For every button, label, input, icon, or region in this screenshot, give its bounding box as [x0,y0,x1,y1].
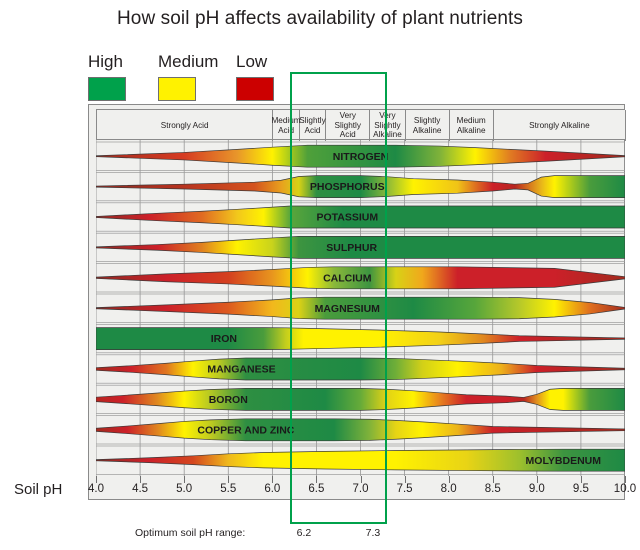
x-tick [537,476,538,483]
x-axis-ticks [96,476,625,483]
optimum-range-line-low [290,104,292,501]
x-tick [272,476,273,483]
nutrient-label-boron: BORON [209,394,248,406]
ph-category-header-row: Strongly AcidMedium AcidSlightly AcidVer… [96,109,625,140]
optimum-range-low-value: 6.2 [297,527,312,539]
ph-category-very-slightly-alkaline: Very Slightly Alkaline [370,110,405,141]
x-tick [361,476,362,483]
nutrient-label-phosphorus: PHOSPHORUS [310,181,385,193]
nutrient-label-nitrogen: NITROGEN [333,151,388,163]
page-title: How soil pH affects availability of plan… [0,8,640,30]
legend-label-low: Low [236,52,274,72]
x-tick-label: 5.5 [220,483,236,495]
nutrient-label-copper-and-zinc: COPPER AND ZINC [197,424,294,436]
legend-swatch-medium [158,77,196,101]
x-tick-label: 6.5 [308,483,324,495]
optimum-range-high-value: 7.3 [366,527,381,539]
x-tick-label: 10.0 [614,483,636,495]
x-tick-label: 7.0 [353,483,369,495]
x-tick-label: 9.5 [573,483,589,495]
ph-category-slightly-acid: Slightly Acid [300,110,326,141]
x-tick [140,476,141,483]
nutrient-label-sulphur: SULPHUR [326,242,377,254]
nutrient-label-potassium: POTASSIUM [316,212,378,224]
ph-category-medium-alkaline: Medium Alkaline [450,110,494,141]
optimum-range-highlight-top [290,72,387,105]
x-tick-label: 9.0 [529,483,545,495]
x-tick-label: 6.0 [264,483,280,495]
nutrient-band-copper-and-zinc [96,419,625,441]
ph-category-strongly-acid: Strongly Acid [97,110,273,141]
legend-item-medium: Medium [158,52,218,101]
optimum-range-caption: Optimum soil pH range: [135,527,245,539]
legend-label-high: High [88,52,126,72]
legend-item-low: Low [236,52,274,101]
x-tick-label: 8.5 [485,483,501,495]
x-tick-label: 5.0 [176,483,192,495]
nutrient-label-iron: IRON [211,333,237,345]
legend-swatch-low [236,77,274,101]
x-tick [228,476,229,483]
x-tick [96,476,97,483]
x-tick [316,476,317,483]
x-tick [449,476,450,483]
nutrient-bands: NITROGENPHOSPHORUSPOTASSIUMSULPHURCALCIU… [96,140,625,476]
ph-category-strongly-alkaline: Strongly Alkaline [494,110,626,141]
legend-swatch-high [88,77,126,101]
axis-title-soil-ph: Soil pH [14,481,62,498]
x-tick [405,476,406,483]
ph-category-slightly-alkaline: Slightly Alkaline [406,110,450,141]
ph-category-medium-acid: Medium Acid [273,110,299,141]
x-tick [625,476,626,483]
nutrient-band-boron [96,388,625,410]
x-tick [581,476,582,483]
nutrient-band-iron [96,328,625,350]
nutrient-label-magnesium: MAGNESIUM [315,303,381,315]
x-tick-label: 8.0 [441,483,457,495]
optimum-range-highlight-bottom [290,500,387,524]
x-tick [184,476,185,483]
nutrient-label-calcium: CALCIUM [323,272,372,284]
legend-item-high: High [88,52,126,101]
nutrient-label-molybdenum: MOLYBDENUM [526,455,602,467]
ph-category-very-slightly-acid: Very Slightly Acid [326,110,370,141]
x-axis-labels: 4.04.55.05.56.06.57.07.58.08.59.09.510.0 [96,483,625,499]
nutrient-band-manganese [96,358,625,380]
x-tick-label: 4.0 [88,483,104,495]
x-tick-label: 7.5 [397,483,413,495]
nutrient-label-manganese: MANGANESE [207,364,275,376]
x-tick-label: 4.5 [132,483,148,495]
optimum-range-line-high [385,104,387,501]
legend-label-medium: Medium [158,52,218,72]
x-tick [493,476,494,483]
